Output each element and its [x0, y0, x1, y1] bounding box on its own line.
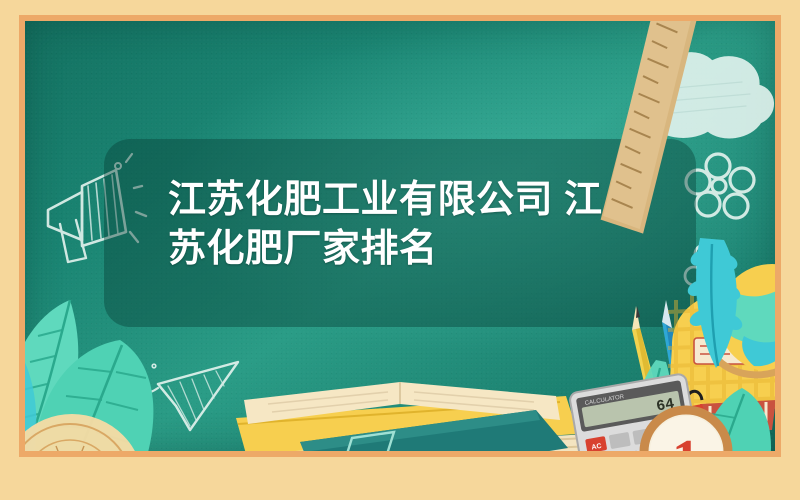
banner-canvas: 江苏化肥工业有限公司 江苏化肥厂家排名	[0, 0, 800, 500]
paper-airplane-chalk-drawing	[110, 362, 238, 430]
cloud-scribble-chalk-drawing	[639, 54, 773, 137]
title-block: 江苏化肥工业有限公司 江苏化肥厂家排名	[168, 176, 638, 275]
page-title: 江苏化肥工业有限公司 江苏化肥厂家排名	[168, 176, 638, 275]
flower-chalk-drawing	[686, 154, 754, 218]
